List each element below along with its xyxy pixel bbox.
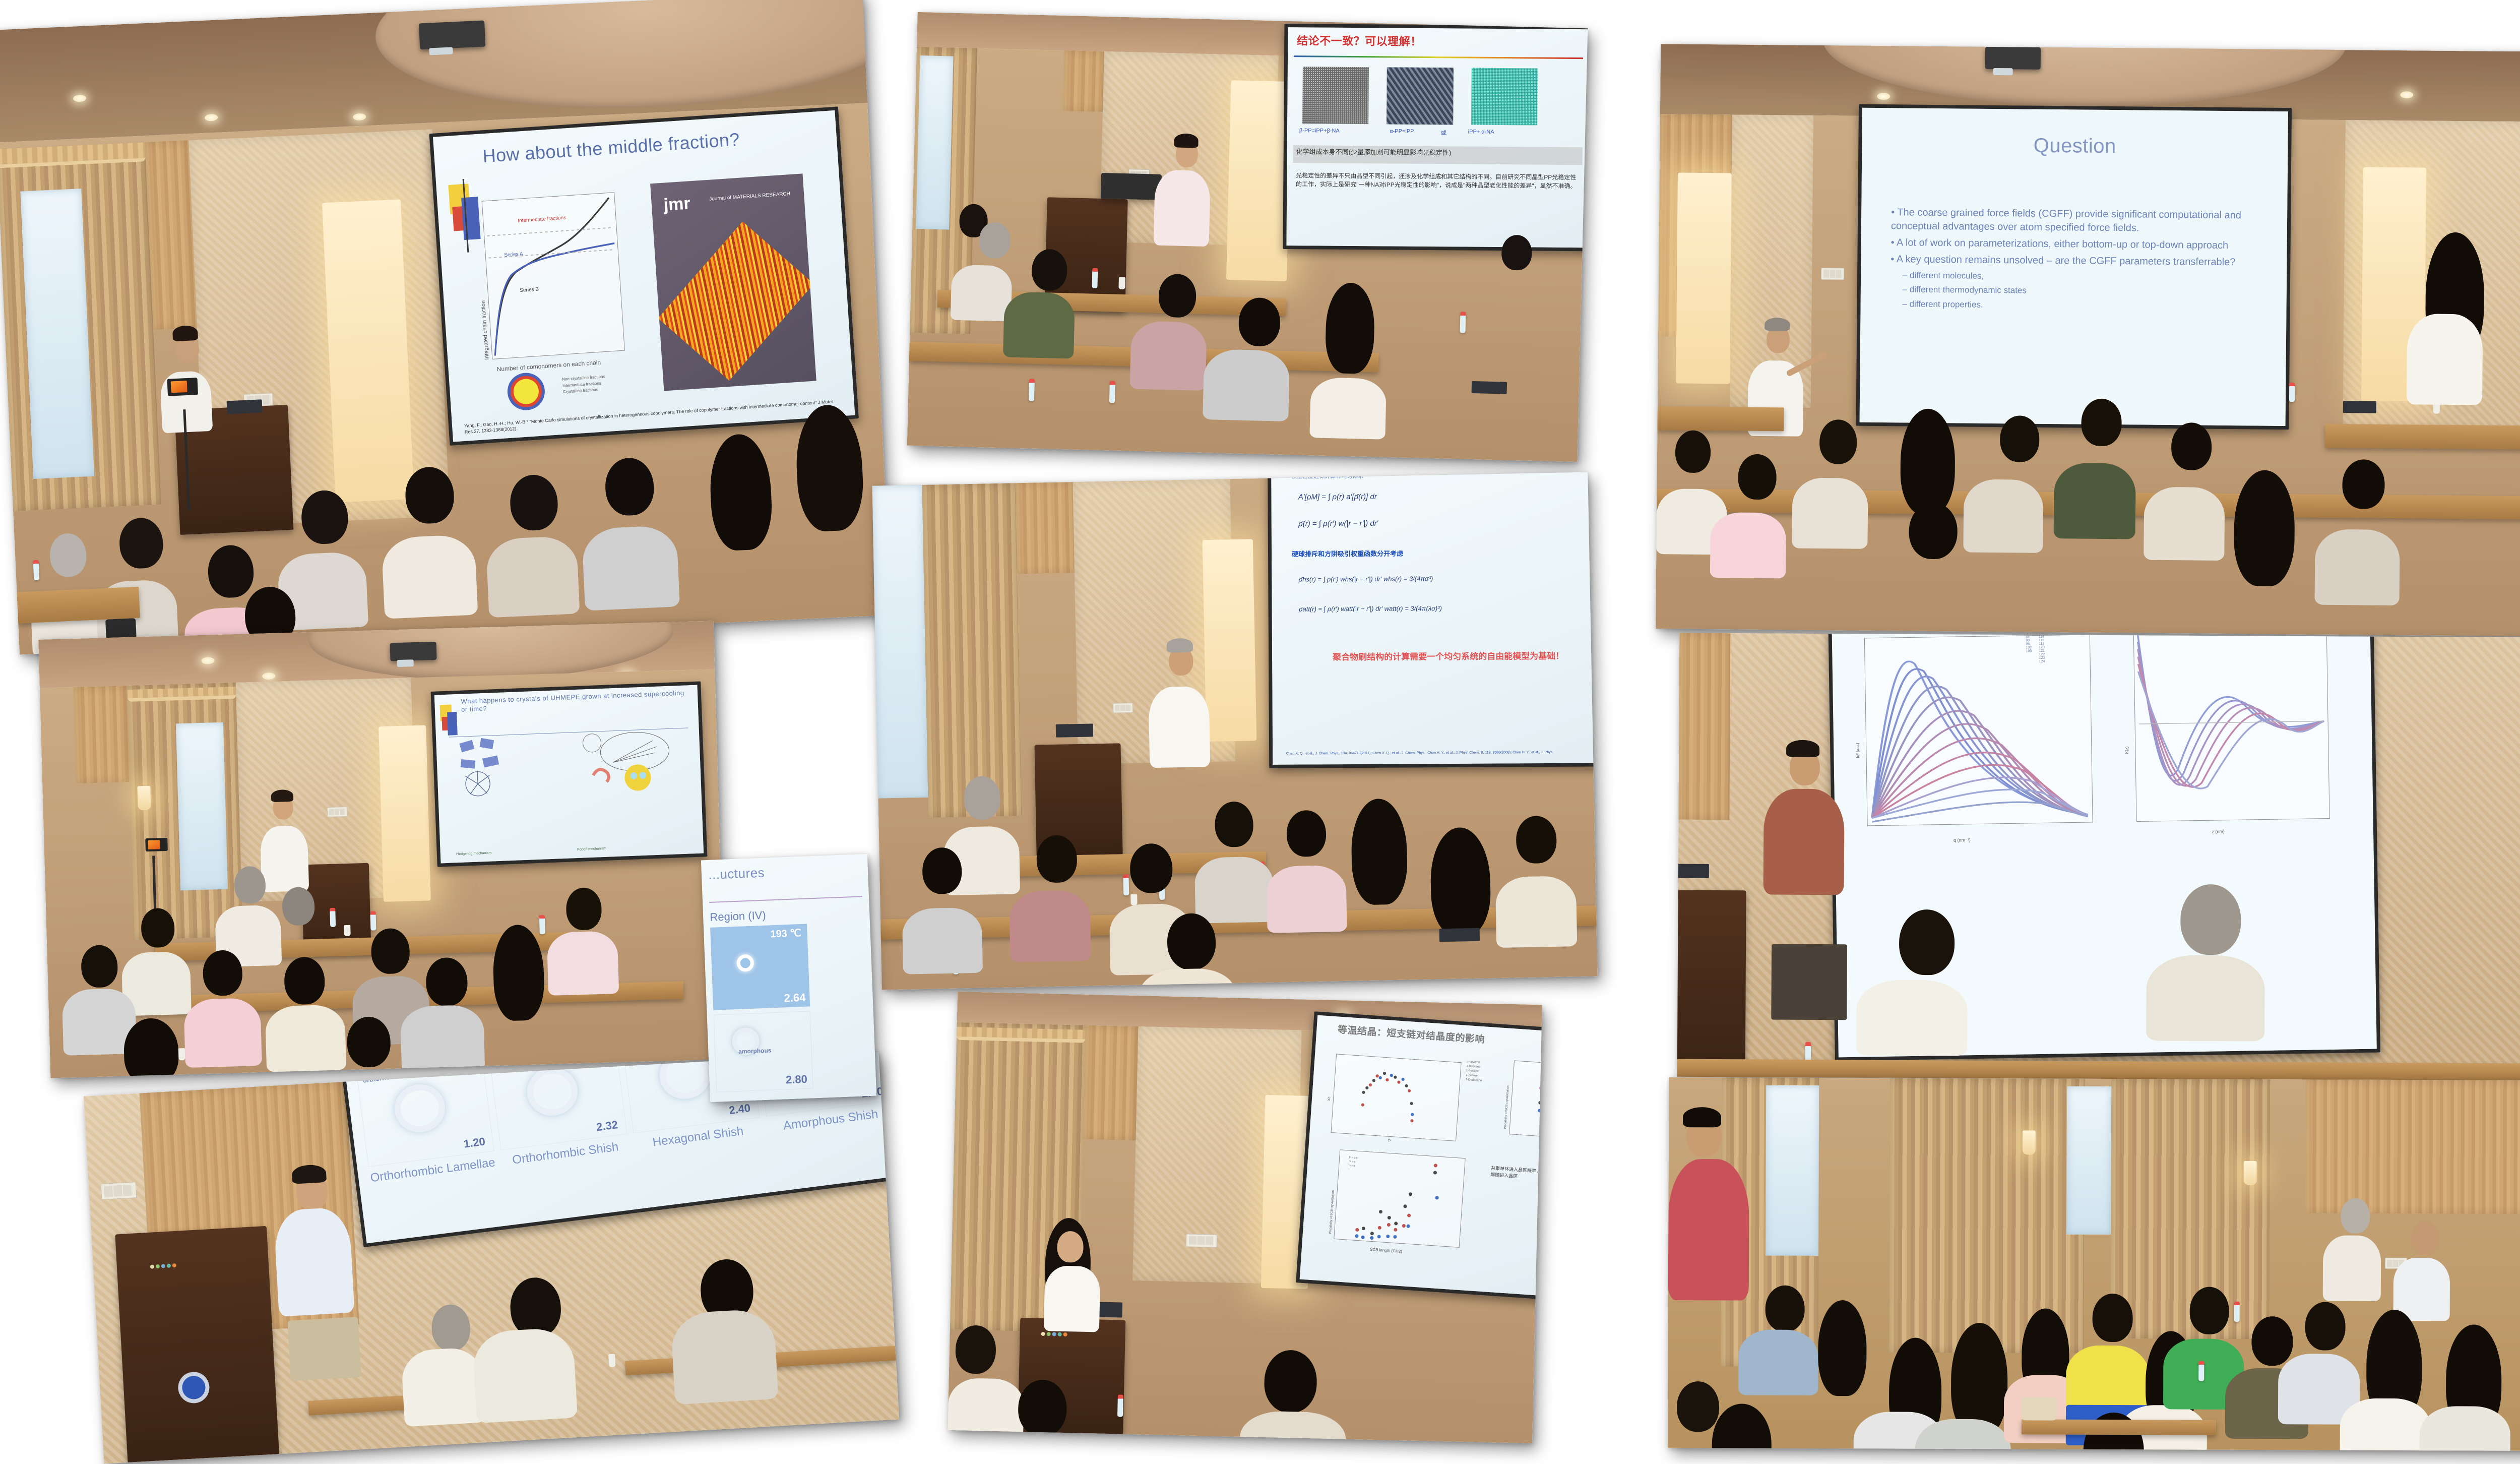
saxs-left-ylabel: Iq² (a.u.) xyxy=(1855,742,1860,757)
chart-bottom-xlabel: SCB length (CH2) xyxy=(1370,1247,1402,1253)
pie-diagram xyxy=(510,375,543,408)
journal-name: Journal of MATERIALS RESEARCH xyxy=(709,191,790,203)
photo-uhmepe-supercooling[interactable]: What happens to crystals of UHMEPE grown… xyxy=(38,621,726,1078)
wall-sconce-right xyxy=(2243,1161,2256,1185)
saxs-legend-84: 84 xyxy=(2026,635,2032,639)
slide-title: Question xyxy=(1862,133,2288,159)
chart-top-ylabel: Xc xyxy=(1328,1096,1332,1101)
photo-shish-categories[interactable]: orthorhombic 1.20 orthorhombic 2.32 hexa… xyxy=(84,1052,899,1463)
value-280: 2.80 xyxy=(786,1073,808,1087)
sub-bullet-1: different thermodynamic states xyxy=(1903,284,2261,299)
equation-0: A′[ρM] = ∫ ρ(r) a′[ρ̄(r)] dr xyxy=(1298,493,1377,502)
speaker-hair xyxy=(1174,133,1199,148)
ceiling-projector xyxy=(1985,47,2041,70)
saxs-right-xlabel: z (nm) xyxy=(2212,829,2225,834)
photo-discussion-crowd[interactable] xyxy=(1668,1077,2520,1451)
video-camera xyxy=(145,838,168,851)
region-label: Region (IV) xyxy=(710,908,766,924)
saxs-legend-96: 96 xyxy=(2026,642,2032,646)
saxs-legend-124: 124 xyxy=(2039,659,2045,663)
lectern xyxy=(1677,890,1746,1077)
photo-shish-structures-strip[interactable]: ...uctures Region (IV) 193 ℃ 2.64 amorph… xyxy=(701,854,876,1102)
saxs-legend-120: 120 xyxy=(2039,645,2045,649)
ring-value-2: 2.40 xyxy=(728,1102,751,1117)
slide-title: 结论不一致？可以理解！ xyxy=(1297,32,1422,49)
chart-top-xlabel: T* xyxy=(1388,1139,1391,1143)
speaker-body xyxy=(1763,788,1845,895)
photo-saxs-curves[interactable]: 84 90 96 102 105 114 116 118 120 xyxy=(1677,633,2520,1081)
journal-logo: jmr xyxy=(663,194,690,215)
video-camera xyxy=(167,378,198,396)
speaker-body xyxy=(1153,169,1211,247)
slide-title-fragment: ...uctures xyxy=(708,865,765,883)
sub-bullet-2: different properties. xyxy=(1902,298,2261,313)
saxs-legend-105: 105 xyxy=(2026,649,2032,653)
chart-xlabel: Number of comonomers on each chain xyxy=(496,358,601,373)
bullet-0: The coarse grained force fields (CGFF) p… xyxy=(1891,206,2262,235)
micrograph-label-2: 或 xyxy=(1440,129,1446,137)
saxs-left-xlabel: q (nm⁻¹) xyxy=(1954,837,1971,843)
saxs-legend-118: 118 xyxy=(2039,642,2045,645)
photo-pp-photostability[interactable]: 结论不一致？可以理解！ β-PP=iPP+β-NA α-PP=iPP 或 iPP… xyxy=(907,12,1588,462)
equation-2: ρ̄hs(r) = ∫ ρ(r′) whs(|r − r′|) dr′ whs(… xyxy=(1299,575,1433,583)
saxs-right-ylabel: K(z) xyxy=(2124,746,2129,754)
projection-screen: Question The coarse grained force fields… xyxy=(1856,104,2292,430)
chart-bottom-ylabel: Probability of SCB crystallization xyxy=(1329,1190,1335,1234)
standing-speaker-hair xyxy=(1683,1107,1721,1127)
lectern xyxy=(115,1226,279,1462)
slide-title: How about the middle fraction? xyxy=(482,129,740,167)
speaker-body xyxy=(274,1207,355,1317)
speaker-body xyxy=(260,825,309,892)
slide-body-text: 光稳定性的差异不只由晶型不同引起，还涉及化学组成和其它结构的不同。目前研究不同晶… xyxy=(1296,171,1579,191)
legend-4: 1-Dodecene xyxy=(1465,1078,1482,1083)
saxs-legend-116: 116 xyxy=(2039,638,2045,642)
slide-conclusion: 聚合物刷结构的计算需要一个均匀系统的自由能模型为基础！ xyxy=(1333,651,1595,663)
chart-annotation-series-b: Series B xyxy=(520,286,539,293)
slide-title: 等温结晶：短支链对结晶度的影响 xyxy=(1337,1022,1485,1046)
journal-cover: jmr Journal of MATERIALS RESEARCH xyxy=(650,173,816,391)
speaker-head xyxy=(1057,1231,1084,1262)
photo-collage: How about the middle fraction? Intermedi… xyxy=(0,0,2520,1452)
wall-sconce xyxy=(137,786,151,811)
ring-value-0: 1.20 xyxy=(463,1135,486,1151)
equation-3: ρ̄att(r) = ∫ ρ(r′) watt(|r − r′|) dr′ wa… xyxy=(1299,604,1442,613)
standing-speaker-body xyxy=(1668,1159,1749,1301)
mechanism-label-popoff: Popoff mechanism xyxy=(577,846,606,851)
wall-sconce-left xyxy=(2023,1130,2036,1154)
equation-1: ρ̄(r) = ∫ ρ(r′) w(|r − r′|) dr′ xyxy=(1298,519,1378,528)
saxs-legend-90: 90 xyxy=(2026,639,2032,642)
projection-screen: What happens to crystals of UHMEPE grown… xyxy=(431,681,708,867)
speaker-hair xyxy=(1786,740,1819,757)
saxs-legend-121: 121 xyxy=(2039,649,2045,652)
projection-screen: 等温结晶：短支链对结晶度的影响 xyxy=(1296,1011,1542,1301)
ring-label-amorphous: amorphous xyxy=(738,1047,772,1055)
projection-screen: 权重密度近似计算非均匀体系 A′[ρM] = ∫ ρ(r) a′[ρ̄(r)] … xyxy=(1268,472,1597,768)
speaker-hair xyxy=(1166,638,1193,653)
slide-note: 硬球排斥和方阱吸引权重函数分开考虑 xyxy=(1292,548,1403,559)
slide-reference: Chen X. Q., et al., J. Chem. Phys., 134,… xyxy=(1286,751,1598,756)
institution-seal xyxy=(177,1371,210,1404)
projection-screen: How about the middle fraction? Intermedi… xyxy=(429,106,859,446)
saxs-legend-114: 114 xyxy=(2039,635,2045,638)
value-264: 2.64 xyxy=(784,991,806,1005)
speaker-hair xyxy=(271,789,294,802)
speaker-hair xyxy=(1765,318,1790,331)
bullet-1: A lot of work on parameterizations, eith… xyxy=(1891,236,2262,253)
ring-label-0: orthorhombic xyxy=(362,1071,406,1084)
chart-right-ylabel: Probability of SCB crystallization xyxy=(1504,1085,1510,1129)
saxs-legend-122: 122 xyxy=(2039,652,2045,656)
photo-scb-crystallization[interactable]: 等温结晶：短支链对结晶度的影响 xyxy=(948,992,1542,1443)
speaker-body xyxy=(1148,686,1210,768)
micrograph-label-1: α-PP=iPP xyxy=(1390,129,1414,135)
photo-equations-slide[interactable]: 权重密度近似计算非均匀体系 A′[ρM] = ∫ ρ(r) a′[ρ̄(r)] … xyxy=(872,472,1598,990)
ring-value-1: 2.32 xyxy=(596,1119,619,1134)
speaker-body xyxy=(1043,1265,1100,1332)
legend-t6: T* = 6 xyxy=(1348,1164,1357,1169)
slide-title: What happens to crystals of UHMEPE grown… xyxy=(461,689,687,714)
bullet-2: A key question remains unsolved – are th… xyxy=(1891,253,2261,270)
photo-question-slide[interactable]: Question The coarse grained force fields… xyxy=(1656,44,2520,637)
photo-middle-fraction[interactable]: How about the middle fraction? Intermedi… xyxy=(0,0,891,655)
saxs-legend-123: 123 xyxy=(2039,656,2045,659)
ceiling-projector xyxy=(390,642,436,661)
micrograph-label-3: iPP+ α-NA xyxy=(1468,129,1494,135)
slide-highlight: 化学组成本身不同(少量添加剂可能明显影响光稳定性) xyxy=(1293,145,1582,165)
ceiling-projector xyxy=(419,20,485,49)
temperature-value: 193 ℃ xyxy=(770,927,801,940)
chart-annotation-series-a: Series A xyxy=(504,251,523,258)
sub-bullet-0: different molecules, xyxy=(1903,270,2261,284)
saxs-legend-102: 102 xyxy=(2026,646,2032,649)
slide-side-note: 共聚单体进入晶区概率，短支链十四烯随进入晶区 xyxy=(1490,1165,1542,1183)
projection-screen: 结论不一致？可以理解！ β-PP=iPP+β-NA α-PP=iPP 或 iPP… xyxy=(1283,24,1588,251)
mechanism-label-hedgehog: Hedgehog mechanism xyxy=(456,851,491,856)
micrograph-label-0: β-PP=iPP+β-NA xyxy=(1299,128,1339,135)
slide-header: 权重密度近似计算非均匀体系 xyxy=(1291,472,1363,480)
